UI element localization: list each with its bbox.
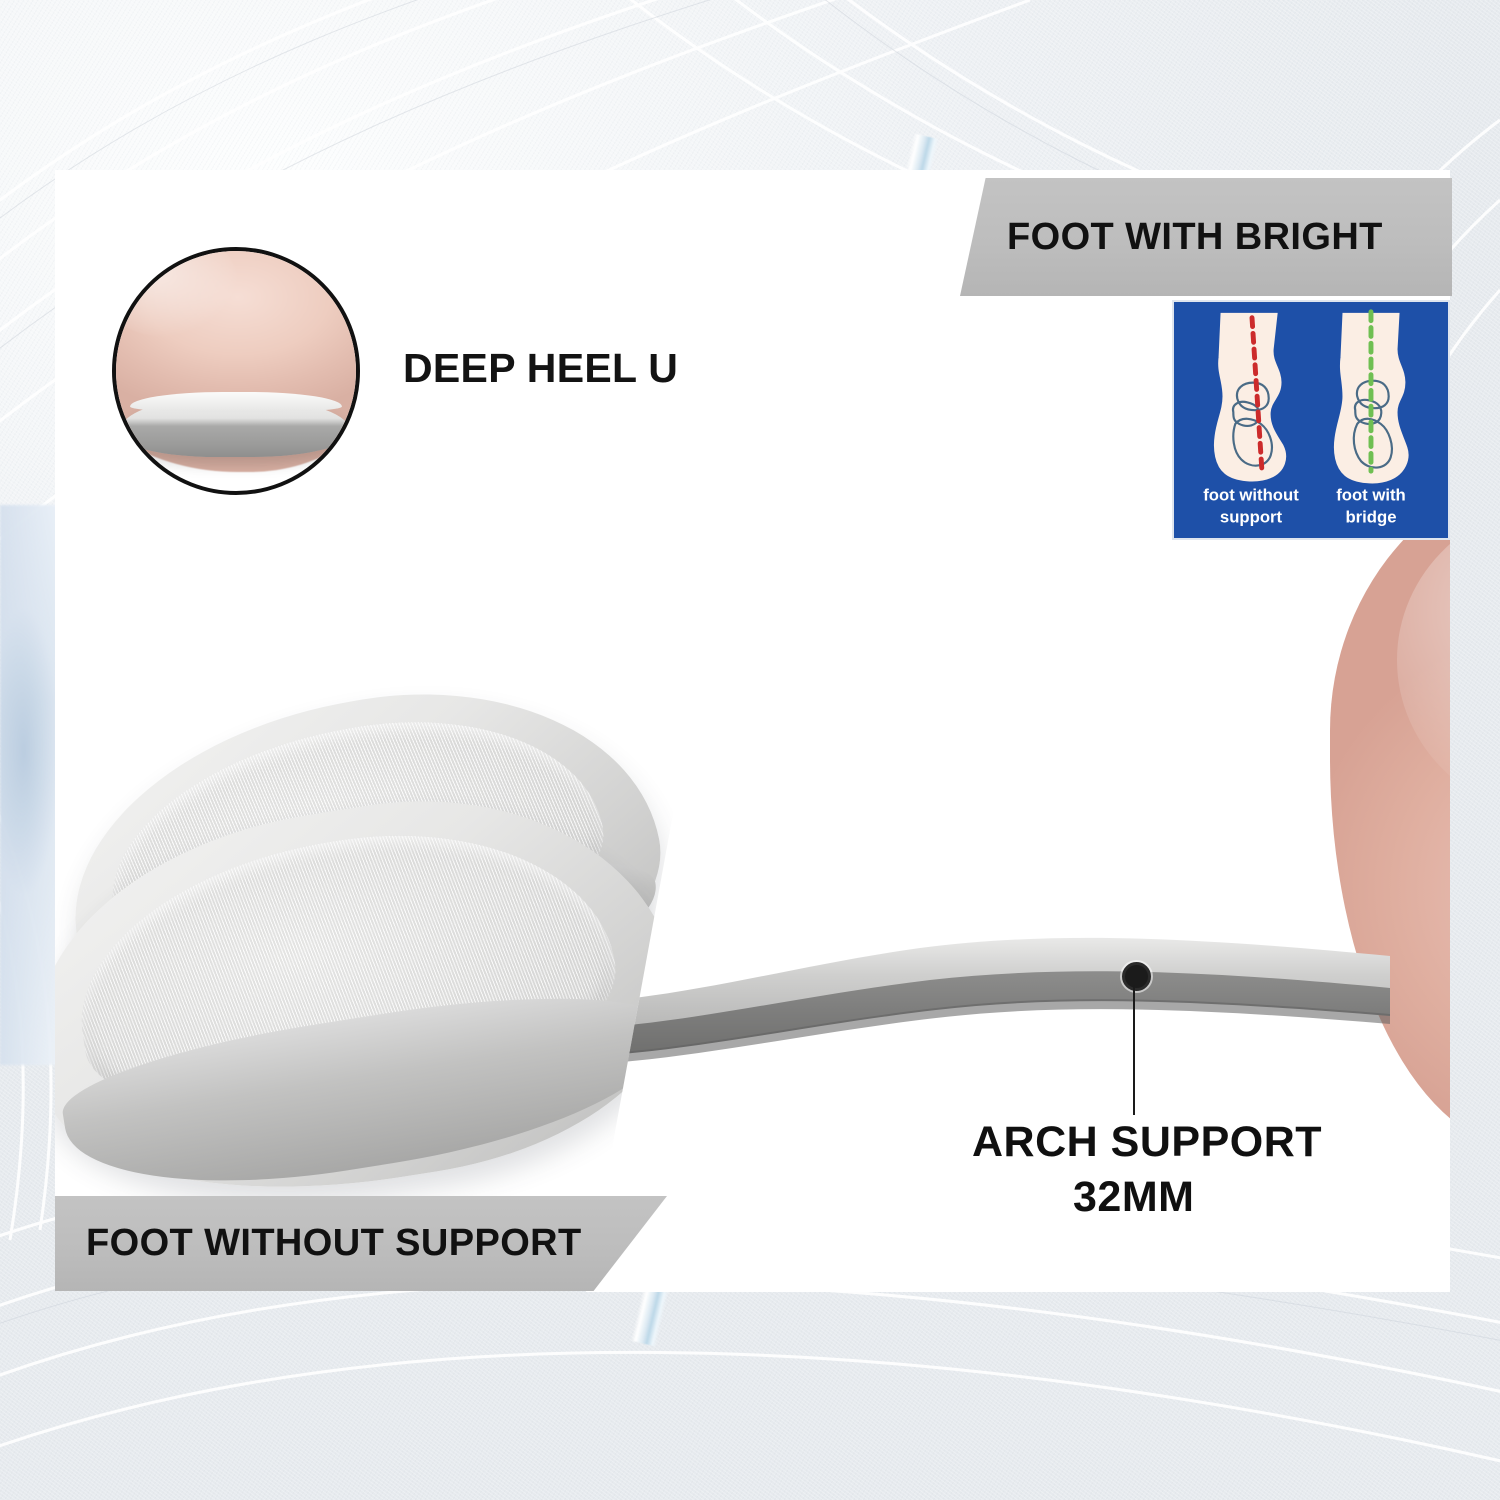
arch-support-insole-cross-section [560,930,1390,1080]
arch-support-label-line1: ARCH SUPPORT [972,1118,1500,1167]
diagram-foot-with-bridge [1335,312,1408,483]
foot-without-support-banner: FOOT WITHOUT SUPPORT [55,1196,667,1291]
foot-with-bright-label: FOOT WITH BRIGHT [1007,216,1383,259]
diagram-foot-without-support [1215,314,1285,481]
diagram-right-caption-line1: foot with [1336,486,1406,505]
diagram-left-caption-line1: foot without [1203,486,1299,505]
left-edge-photo-sliver [0,505,60,1065]
foot-without-support-label: FOOT WITHOUT SUPPORT [86,1222,582,1265]
diagram-left-caption-line2: support [1220,507,1283,526]
deep-heel-callout-label: DEEP HEEL U [403,345,678,392]
arch-support-label-line2: 32MM [1073,1173,1500,1222]
diagram-right-caption-line2: bridge [1345,507,1396,526]
arch-support-marker-dot [1122,962,1151,991]
ankle-alignment-diagram: foot without support foot with bridge [1172,300,1450,540]
insole-edge-image [121,400,351,458]
heel-cup-closeup-circle [112,247,360,495]
arch-support-leader-line [1133,985,1135,1115]
arch-support-callout: ARCH SUPPORT 32MM [700,1118,1500,1222]
infographic-canvas: DEEP HEEL U [0,0,1500,1500]
foot-with-bright-banner: FOOT WITH BRIGHT [960,178,1452,296]
